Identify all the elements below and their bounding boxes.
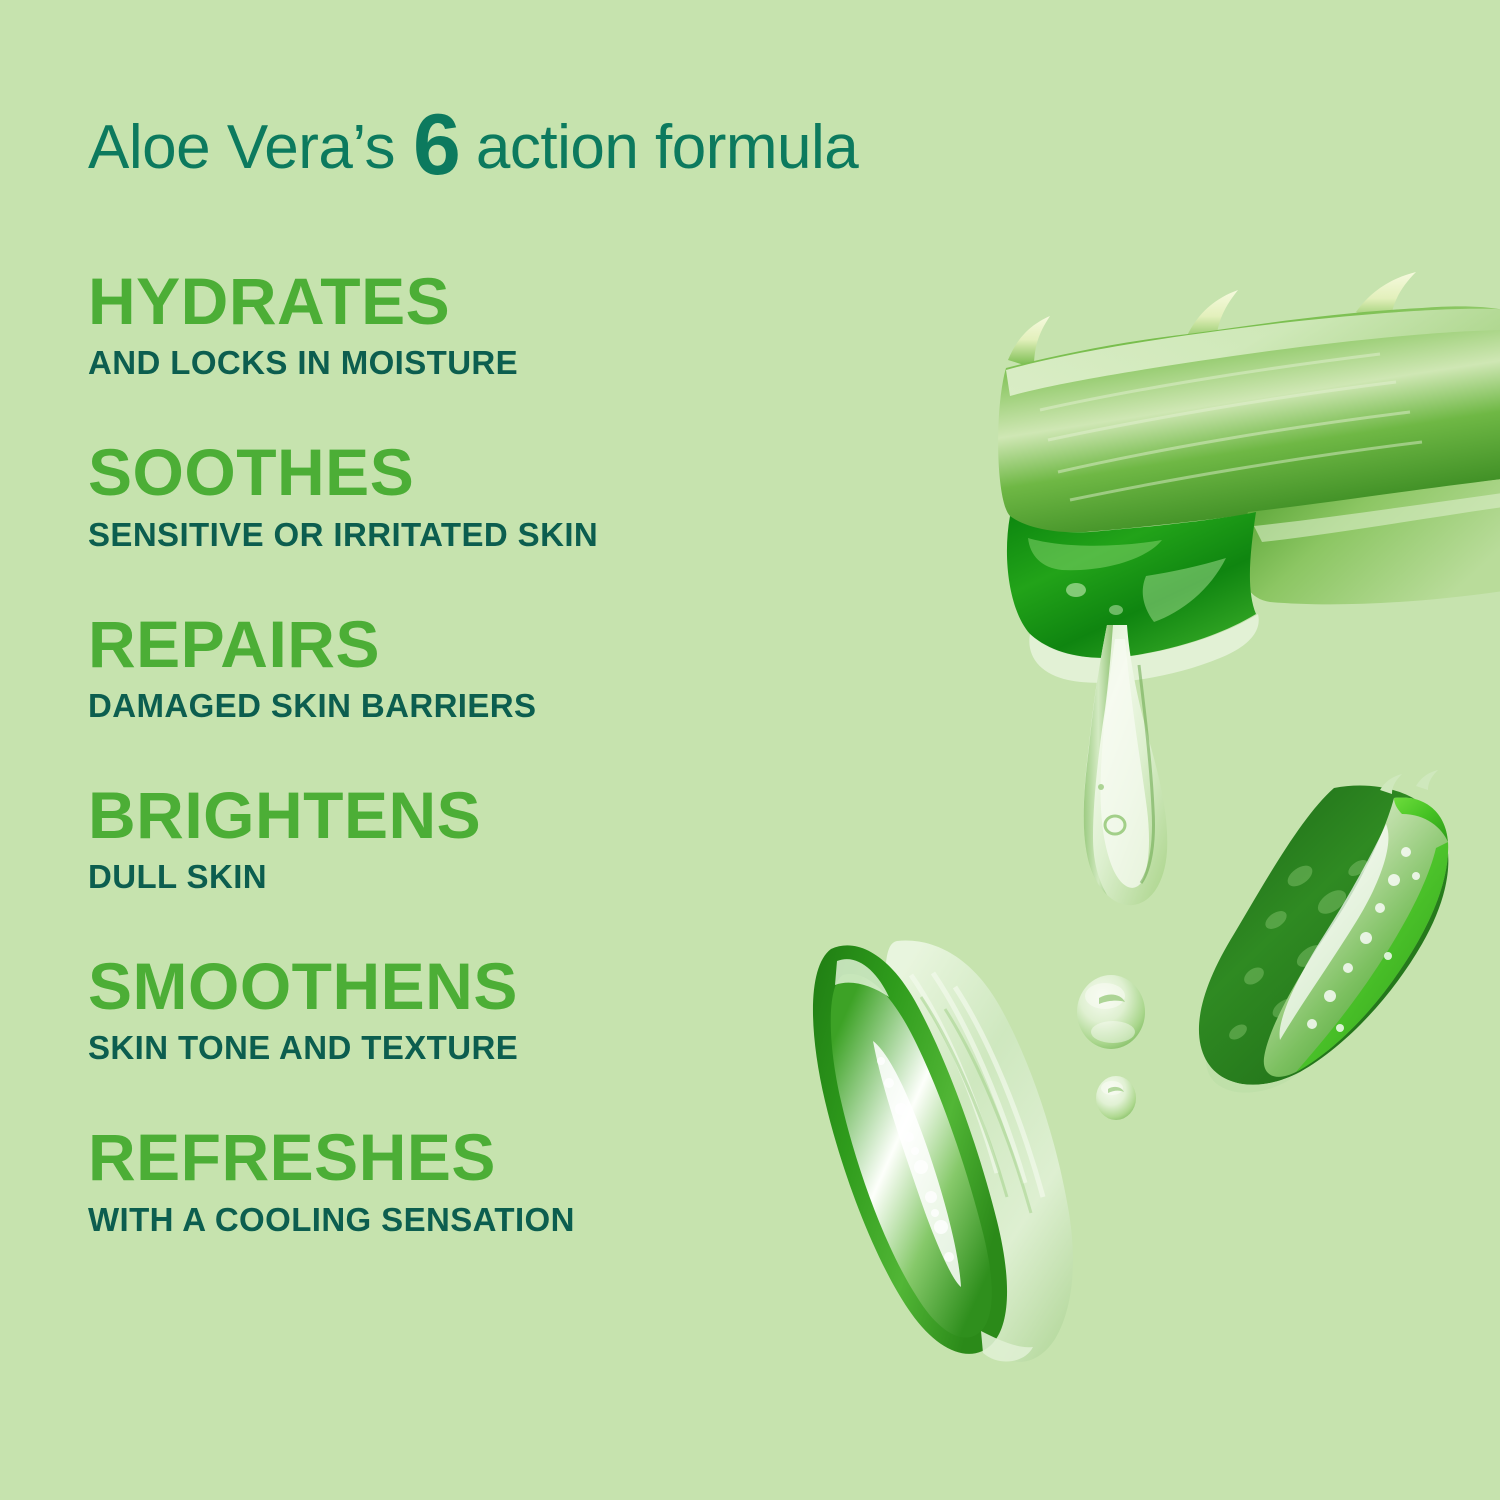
gel-drip-icon	[1055, 625, 1185, 955]
headline-number: 6	[395, 102, 476, 188]
aloe-slice-dark-icon	[1180, 780, 1490, 1090]
headline-before: Aloe Vera’s	[88, 117, 395, 179]
poster-canvas: Aloe Vera’s 6 action formula HYDRATES AN…	[0, 0, 1500, 1500]
aloe-slice-icon	[785, 935, 1105, 1365]
aloe-leaf-cut-icon	[910, 290, 1500, 690]
aloe-artwork	[740, 0, 1500, 1500]
